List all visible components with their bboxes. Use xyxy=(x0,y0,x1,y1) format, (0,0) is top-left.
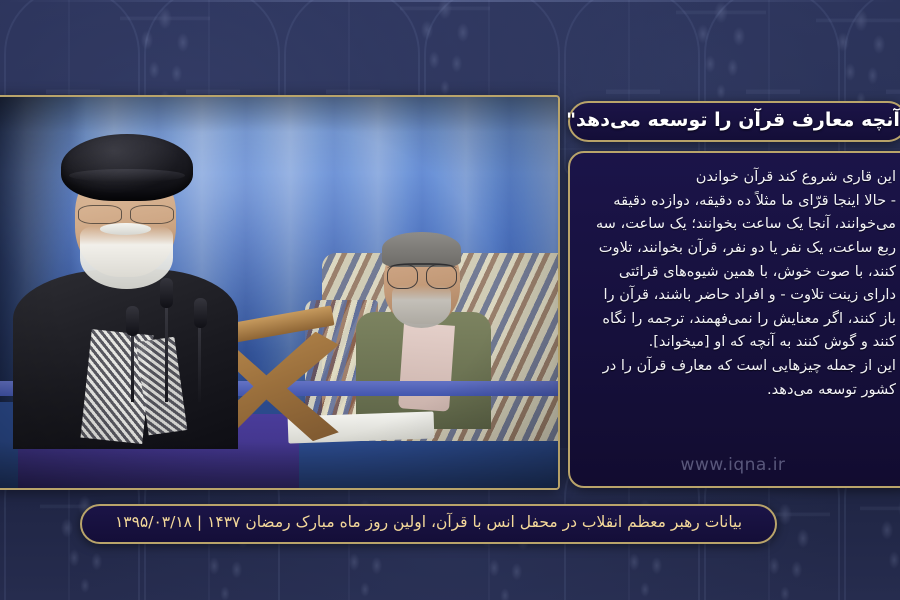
caption-panel: بیانات رهبر معظم انقلاب در محفل انس با ق… xyxy=(80,504,777,544)
microphone-stem xyxy=(165,300,168,402)
seated-man-beard xyxy=(392,285,451,328)
speaker-beard xyxy=(80,226,173,289)
microphone-head xyxy=(126,306,139,336)
quote-body-panel: این قاری شروع کند قرآن خواندن - حالا این… xyxy=(568,151,900,488)
microphone-head xyxy=(160,278,173,308)
quote-card: "آنچه معارف قرآن را توسعه می‌دهد" این قا… xyxy=(0,0,900,600)
quote-body: این قاری شروع کند قرآن خواندن - حالا این… xyxy=(588,165,896,401)
microphone-stem xyxy=(131,324,134,402)
speaker-mustache xyxy=(100,223,151,235)
photo-inner xyxy=(0,97,558,488)
background-floral-sprig xyxy=(860,494,900,600)
speaker-turban xyxy=(61,134,193,200)
seated-man-hair xyxy=(382,232,462,267)
seated-man-glasses xyxy=(387,263,457,277)
microphone-stem xyxy=(198,316,201,402)
microphone-head xyxy=(194,298,207,328)
quote-title: "آنچه معارف قرآن را توسعه می‌دهد" xyxy=(552,111,900,133)
speaker-glasses xyxy=(78,205,174,222)
quote-title-panel: "آنچه معارف قرآن را توسعه می‌دهد" xyxy=(568,101,900,142)
speech-photo xyxy=(0,95,560,490)
caption-label: بیانات رهبر معظم انقلاب در محفل انس با ق… xyxy=(115,515,742,534)
